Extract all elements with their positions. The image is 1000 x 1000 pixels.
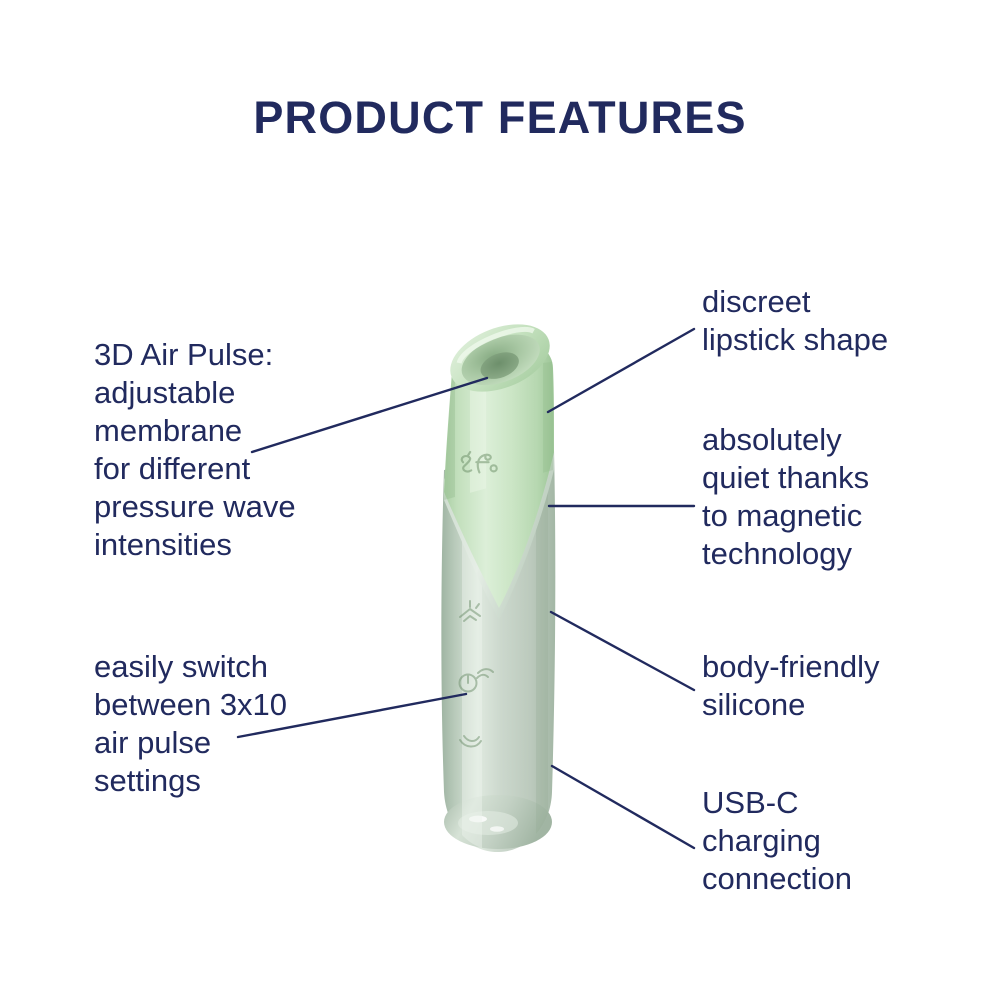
product-features-diagram: PRODUCT FEATURES: [0, 0, 1000, 1000]
leader-silicone: [551, 612, 694, 690]
leader-usbc: [552, 766, 694, 848]
leader-lines: [0, 0, 1000, 1000]
leader-lipstick: [548, 329, 694, 412]
leader-air-pulse: [252, 378, 487, 452]
leader-switch: [238, 694, 466, 737]
